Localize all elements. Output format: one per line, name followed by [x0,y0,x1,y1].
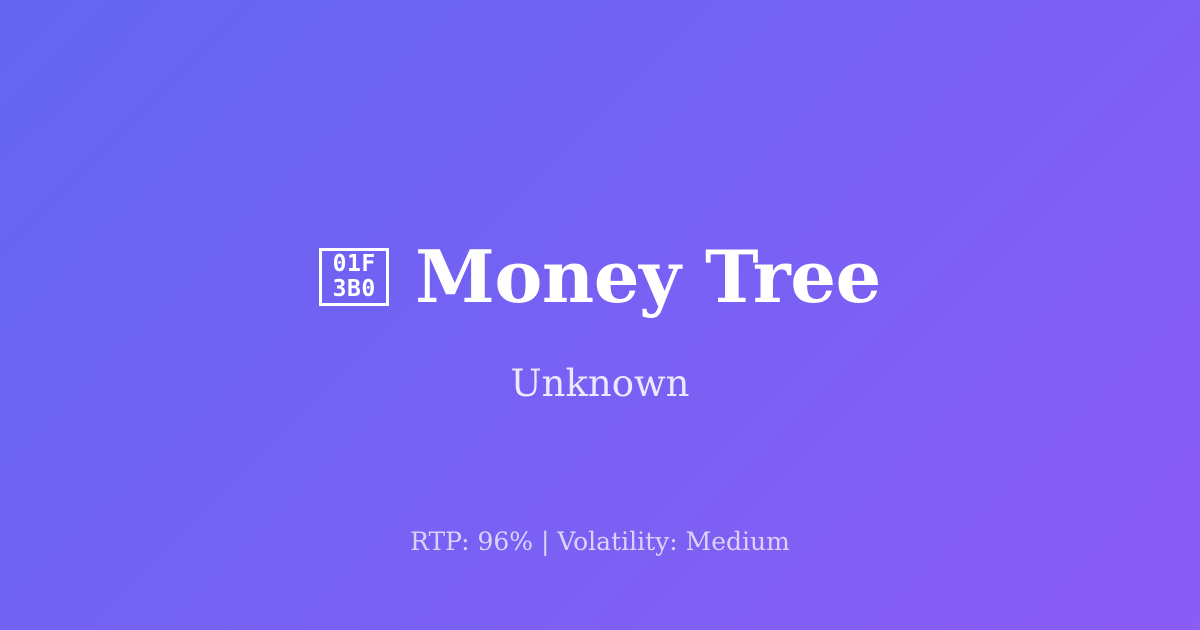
subtitle: Unknown [0,362,1200,406]
og-card: 01F 3B0 Money Tree Unknown RTP: 96% | Vo… [0,0,1200,630]
game-meta-line: RTP: 96% | Volatility: Medium [0,527,1200,557]
page-title: Money Tree [415,241,881,313]
emoji-codepoint-top: 01F [333,252,376,277]
emoji-codepoint-bottom: 3B0 [333,277,376,302]
slot-machine-emoji-icon: 01F 3B0 [319,248,389,306]
title-row: 01F 3B0 Money Tree [0,232,1200,322]
